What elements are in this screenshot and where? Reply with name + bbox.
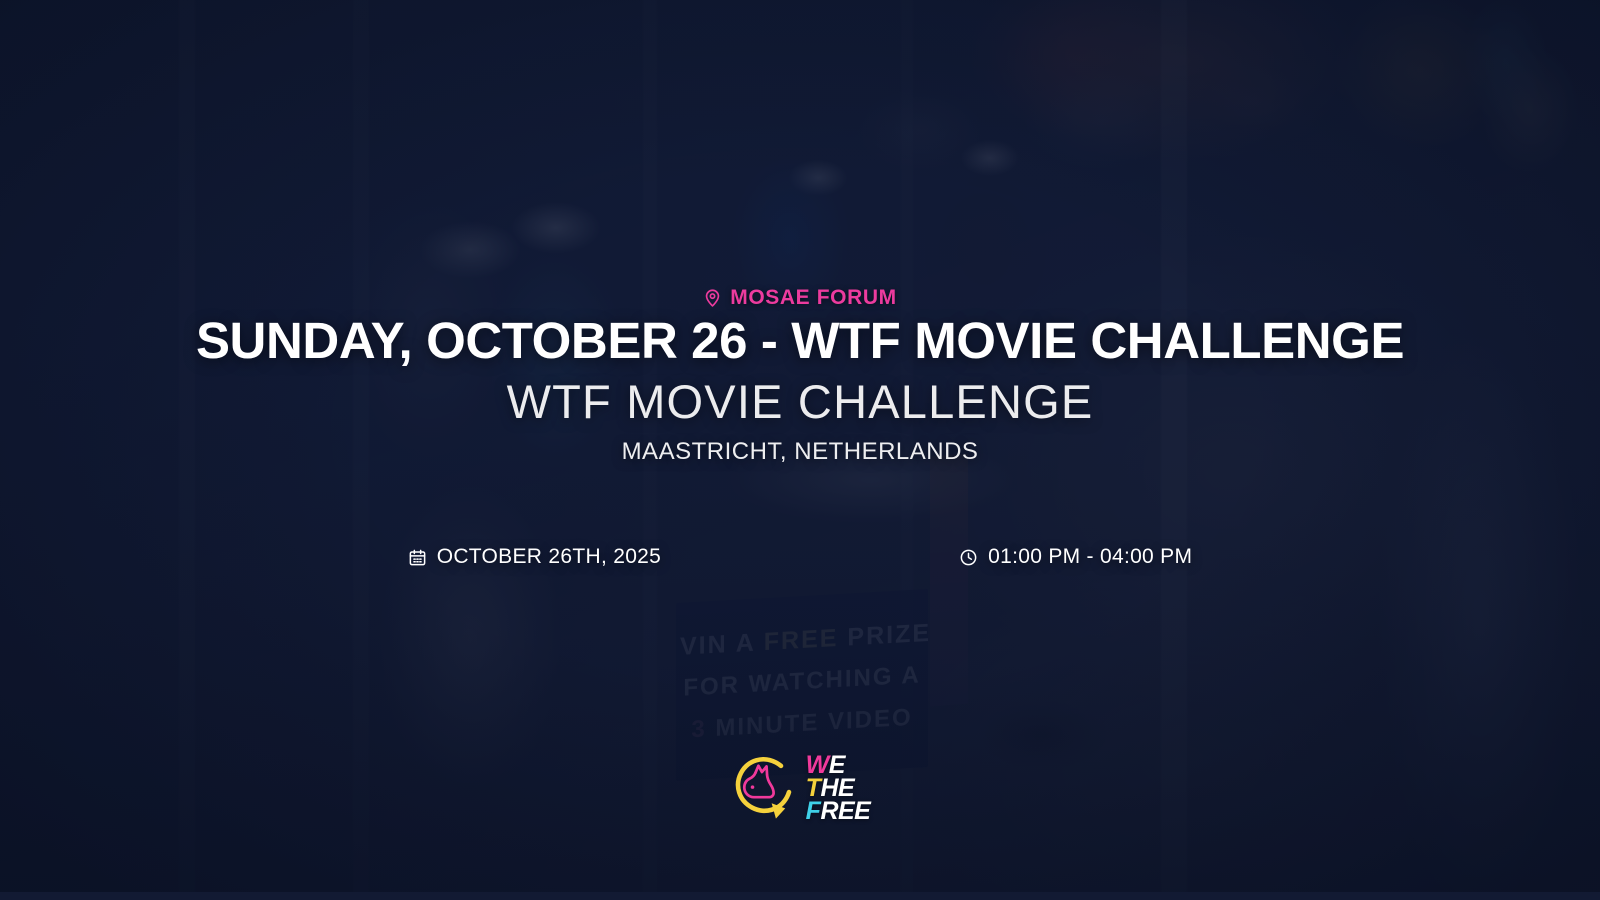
location-pin-icon [703, 287, 722, 309]
logo-letter-f: F [806, 797, 821, 825]
page-title: SUNDAY, OCTOBER 26 - WTF MOVIE CHALLENGE [0, 312, 1600, 371]
venue-line: MOSAE FORUM [0, 286, 1600, 310]
venue-label: MOSAE FORUM [730, 286, 896, 310]
clock-icon [959, 548, 978, 567]
hero-content: MOSAE FORUM SUNDAY, OCTOBER 26 - WTF MOV… [0, 0, 1600, 900]
event-hero-banner: VIN A FREE PRIZE FOR WATCHING A 3 MINUTE… [0, 0, 1600, 900]
event-meta-row: OCTOBER 26TH, 2025 01:00 PM - 04:00 PM [0, 545, 1600, 569]
calendar-icon [408, 548, 427, 567]
logo-wordmark: WE THE FREE [806, 754, 871, 823]
event-date-label: OCTOBER 26TH, 2025 [437, 545, 661, 569]
logo-letters-ree: REE [820, 797, 870, 825]
event-subtitle: WTF MOVIE CHALLENGE [0, 374, 1600, 430]
logo-line-free: FREE [806, 800, 871, 823]
event-date: OCTOBER 26TH, 2025 [408, 545, 661, 569]
wtf-brand-logo[interactable]: WE THE FREE [0, 752, 1600, 824]
event-time: 01:00 PM - 04:00 PM [959, 545, 1192, 569]
event-city: MAASTRICHT, NETHERLANDS [0, 438, 1600, 466]
wtf-dog-circle-logo-icon [730, 752, 798, 824]
event-time-label: 01:00 PM - 04:00 PM [988, 545, 1192, 569]
